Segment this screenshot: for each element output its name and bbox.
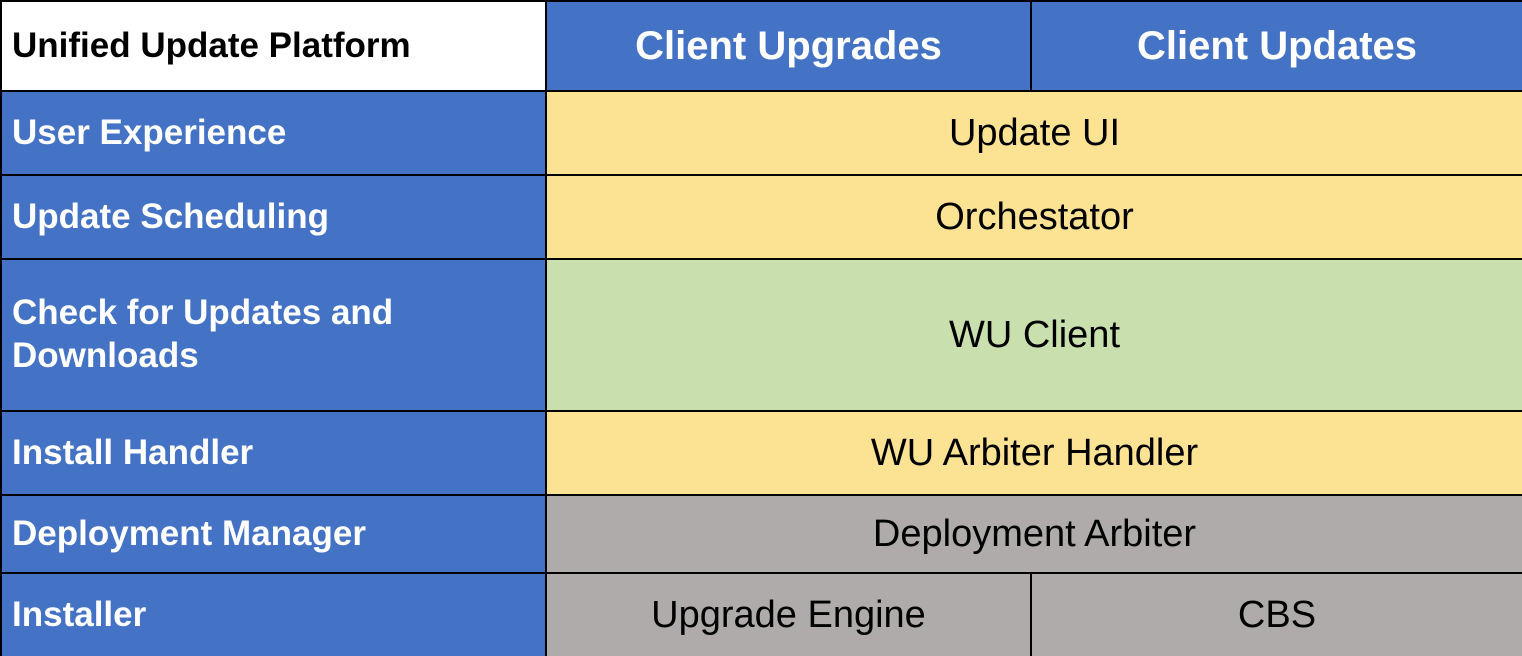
row-label-user-experience: User Experience (1, 91, 546, 175)
row-label-deployment-manager: Deployment Manager (1, 495, 546, 573)
cell-wu-client: WU Client (546, 259, 1522, 411)
cell-wu-arbiter-handler: WU Arbiter Handler (546, 411, 1522, 495)
table-row: User Experience Update UI (1, 91, 1522, 175)
row-label-update-scheduling: Update Scheduling (1, 175, 546, 259)
column-header-client-upgrades: Client Upgrades (546, 1, 1031, 91)
column-header-client-updates: Client Updates (1031, 1, 1522, 91)
table-title-cell: Unified Update Platform (1, 1, 546, 91)
cell-update-ui: Update UI (546, 91, 1522, 175)
table-row: Update Scheduling Orchestator (1, 175, 1522, 259)
table-row: Install Handler WU Arbiter Handler (1, 411, 1522, 495)
table-header-row: Unified Update Platform Client Upgrades … (1, 1, 1522, 91)
table-row: Deployment Manager Deployment Arbiter (1, 495, 1522, 573)
row-label-install-handler: Install Handler (1, 411, 546, 495)
cell-orchestator: Orchestator (546, 175, 1522, 259)
table-row: Check for Updates and Downloads WU Clien… (1, 259, 1522, 411)
unified-update-platform-table: Unified Update Platform Client Upgrades … (0, 0, 1522, 656)
cell-upgrade-engine: Upgrade Engine (546, 573, 1031, 656)
cell-cbs: CBS (1031, 573, 1522, 656)
row-label-installer: Installer (1, 573, 546, 656)
table-row: Installer Upgrade Engine CBS (1, 573, 1522, 656)
cell-deployment-arbiter: Deployment Arbiter (546, 495, 1522, 573)
row-label-check-for-updates-and-downloads: Check for Updates and Downloads (1, 259, 546, 411)
